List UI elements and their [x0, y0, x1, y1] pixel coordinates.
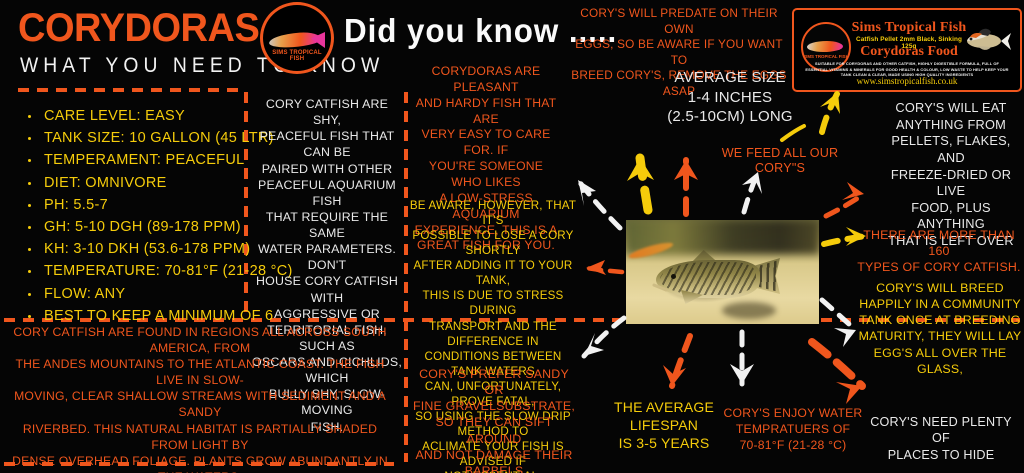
page-subtitle: WHAT YOU NEED TO KNOW	[20, 54, 384, 78]
species-count-text: THERE ARE MORE THAN 160 TYPES OF CORY CA…	[856, 228, 1022, 276]
habitat-text: CORY CATFISH ARE FOUND IN REGIONS ALL AC…	[6, 324, 394, 473]
logo-caption: SIMS TROPICAL FISH	[267, 50, 327, 62]
arrow-left-orange	[586, 260, 622, 275]
brand-logo: SIMS TROPICAL FISH	[260, 2, 334, 74]
arrow-right-orange	[826, 182, 864, 216]
divider-top-left	[18, 88, 246, 92]
label-catfish-icon	[958, 24, 1012, 54]
label-product-name: Corydoras Food	[846, 44, 972, 60]
arrow-up-yellow-label	[820, 92, 840, 132]
arrow-down-right-orange	[812, 342, 862, 404]
page-title: CORYDORAS	[18, 6, 259, 51]
arrow-down-white-temperature	[730, 332, 754, 384]
label-website[interactable]: www.simstropicalfish.co.uk	[804, 76, 1010, 86]
hiding-places-text: CORY'S NEED PLENTY OF PLACES TO HIDE	[862, 414, 1020, 463]
label-logo-caption: SIMS TROPICAL FISH	[803, 54, 849, 59]
average-size-text: AVERAGE SIZE 1-4 INCHES (2.5-10CM) LONG	[650, 68, 810, 127]
arrow-down-orange-lifespan	[663, 336, 690, 386]
lifespan-text: THE AVERAGE LIFESPAN IS 3-5 YEARS	[606, 398, 722, 453]
substrate-text: CORY'S PREFER SANDY OR FINE GRAVELSUBSTR…	[410, 366, 578, 473]
product-label-card: SIMS TROPICAL FISH Sims Tropical Fish Ca…	[792, 8, 1022, 92]
feeding-intro-text: WE FEED ALL OUR CORY"S	[706, 146, 854, 176]
photo-shadow	[722, 302, 776, 319]
temperature-text: CORY'S ENJOY WATER TEMPRATUERS OF 70-81°…	[722, 406, 864, 454]
arrow-accent-yellow-small	[782, 126, 804, 140]
arrow-down-right-white	[822, 300, 856, 347]
arrow-up-white	[742, 172, 762, 212]
arrow-down-left-white	[584, 318, 624, 356]
arrow-up-left-white	[578, 180, 620, 228]
label-fish-shape	[807, 41, 843, 52]
breeding-text: CORY'S WILL BREED HAPPILY IN A COMMUNITY…	[858, 280, 1022, 377]
label-brand: Sims Tropical Fish	[850, 20, 968, 36]
arrow-up-orange	[674, 160, 698, 214]
arrow-up-yellow	[627, 158, 654, 210]
corydoras-photo	[626, 220, 819, 324]
infographic-poster: CORYDORAS WHAT YOU NEED TO KNOW Did you …	[0, 0, 1024, 473]
fish-eye	[671, 274, 676, 279]
